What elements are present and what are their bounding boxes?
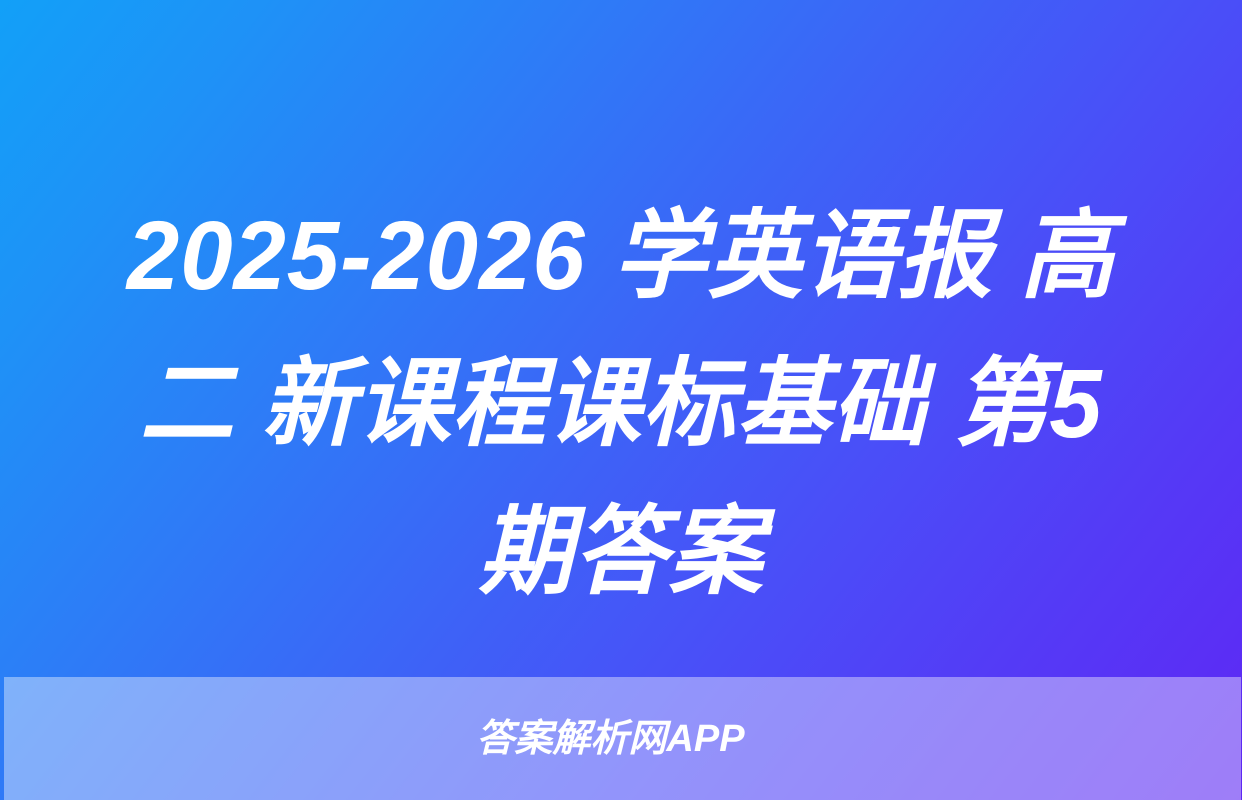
title-line-1: 2025-2026 学英语报 高	[52, 182, 1191, 330]
title-line-3: 期答案	[52, 478, 1191, 626]
page-title: 2025-2026 学英语报 高 二 新课程课标基础 第5 期答案	[0, 182, 1242, 626]
watermark-band: 答案解析网APP	[4, 677, 1241, 800]
app-watermark-label: 答案解析网APP	[476, 718, 744, 760]
title-line-2: 二 新课程课标基础 第5	[52, 330, 1191, 478]
watermark-wrapper: 答案解析网APP	[476, 720, 744, 758]
poster-canvas: 2025-2026 学英语报 高 二 新课程课标基础 第5 期答案 答案解析网A…	[0, 0, 1242, 800]
